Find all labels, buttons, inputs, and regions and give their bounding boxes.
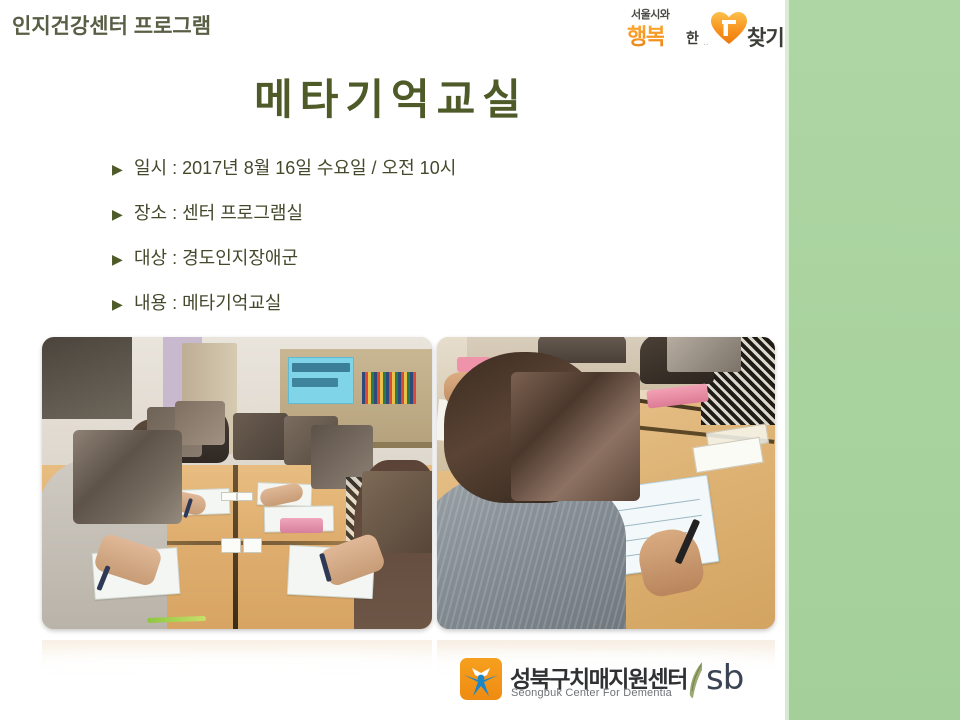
page-kicker: 인지건강센터 프로그램 (12, 10, 211, 40)
photo-gallery (0, 330, 782, 640)
list-item-text: 대상 : 경도인지장애군 (134, 245, 298, 271)
center-mark-icon (460, 658, 502, 700)
photo-reflection-left (42, 640, 432, 702)
page-title: 메타기억교실 (0, 66, 782, 127)
seongbuk-center-logo: 성북구치매지원센터 Seongbuk Center For Dementia s… (460, 656, 770, 708)
sb-wordmark: sb (706, 658, 743, 698)
panel-edge-highlight (785, 0, 789, 720)
triangle-bullet-icon: ▶ (112, 200, 134, 227)
photo-group-activity (42, 337, 432, 629)
seoul-happy-finder-logo: 서울시와 행복 한 .. 찾기 (627, 6, 785, 54)
triangle-bullet-icon: ▶ (112, 245, 134, 272)
list-item-text: 장소 : 센터 프로그램실 (134, 200, 303, 226)
heart-icon (711, 12, 747, 45)
brand-line2: 행복 (627, 19, 664, 51)
triangle-bullet-icon: ▶ (112, 290, 134, 317)
detail-list: ▶ 일시 : 2017년 8월 16일 수요일 / 오전 10시 ▶ 장소 : … (112, 155, 712, 335)
photo-participant-writing (437, 337, 775, 629)
decorative-green-panel: oak (782, 0, 960, 720)
list-item-text: 일시 : 2017년 8월 16일 수요일 / 오전 10시 (134, 155, 456, 181)
brand-line3: 찾기 (747, 22, 784, 52)
list-item: ▶ 장소 : 센터 프로그램실 (112, 200, 712, 245)
person-check-icon (460, 658, 502, 700)
triangle-bullet-icon: ▶ (112, 155, 134, 182)
brand-dots: .. (703, 37, 709, 48)
sb-leaf-icon (688, 661, 708, 699)
list-item: ▶ 일시 : 2017년 8월 16일 수요일 / 오전 10시 (112, 155, 712, 200)
list-item: ▶ 내용 : 메타기억교실 (112, 290, 712, 335)
brand-han: 한 (686, 28, 699, 48)
list-item: ▶ 대상 : 경도인지장애군 (112, 245, 712, 290)
center-name-en: Seongbuk Center For Dementia (511, 687, 672, 699)
list-item-text: 내용 : 메타기억교실 (134, 290, 281, 316)
